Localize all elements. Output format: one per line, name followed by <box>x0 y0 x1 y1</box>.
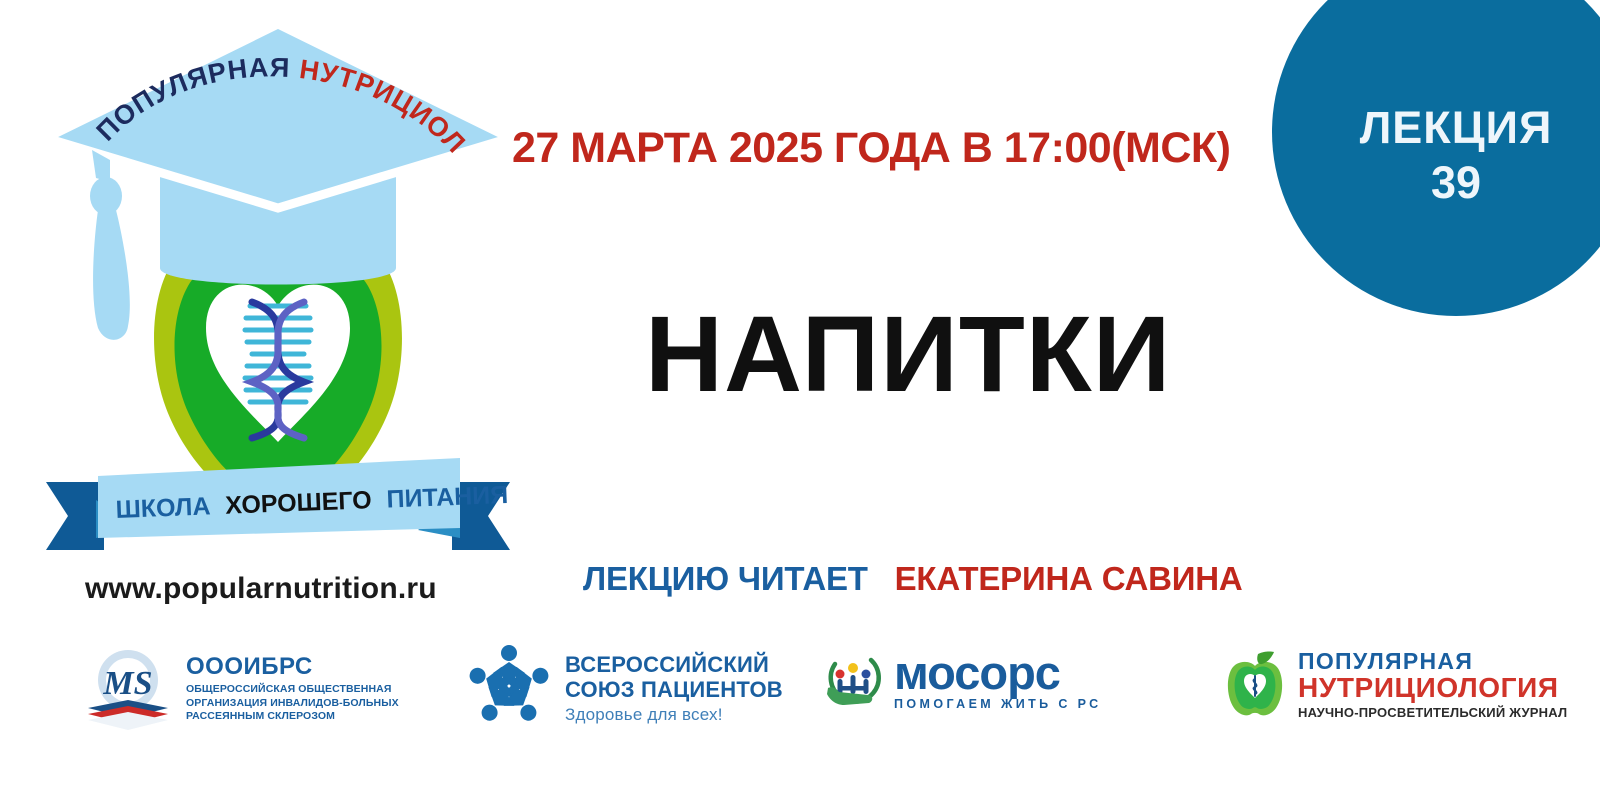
ribbon-text-horoshego: ХОРОШЕГО <box>225 486 372 520</box>
partner-text-journal: ПОПУЛЯРНАЯ НУТРИЦИОЛОГИЯ НАУЧНО-ПРОСВЕТИ… <box>1298 649 1567 720</box>
partner-logo-strip: MS ОООИБРС ОБЩЕРОССИЙСКАЯ ОБЩЕСТВЕННАЯ О… <box>0 636 1600 756</box>
partner-brand-vsp-line-1: ВСЕРОССИЙСКИЙ <box>565 652 783 677</box>
lecture-badge-word: ЛЕКЦИЯ <box>1360 104 1553 151</box>
apple-caduceus-icon <box>1222 646 1288 723</box>
partner-logo-mosors[interactable]: мосорс ПОМОГАЕМ ЖИТЬ С РС <box>822 648 1102 715</box>
partner-sub-line-2: ОРГАНИЗАЦИЯ ИНВАЛИДОВ-БОЛЬНЫХ <box>186 697 399 710</box>
website-url[interactable]: www.popularnutrition.ru <box>85 572 437 606</box>
ms-monogram-icon: MS <box>80 644 176 735</box>
partner-brand-vsp-line-2: СОЮЗ ПАЦИЕНТОВ <box>565 677 783 702</box>
partner-text-mosors: мосорс ПОМОГАЕМ ЖИТЬ С РС <box>894 652 1102 710</box>
event-date: 27 МАРТА 2025 ГОДА В 17:00(МСК) <box>512 124 1230 173</box>
people-circle-icon <box>463 640 555 737</box>
partner-tagline-vsp: Здоровье для всех! <box>565 705 783 725</box>
speaker-prefix: ЛЕКЦИЮ ЧИТАЕТ <box>583 560 868 597</box>
lecture-badge-content: ЛЕКЦИЯ 39 <box>1272 0 1600 316</box>
ribbon-tail-left-icon <box>46 482 104 550</box>
page-title: НАПИТКИ <box>645 300 1171 408</box>
lecture-badge-number: 39 <box>1431 151 1481 214</box>
partner-brand-mosors: мосорс <box>894 652 1102 694</box>
partner-journal-line-3: НАУЧНО-ПРОСВЕТИТЕЛЬСКИЙ ЖУРНАЛ <box>1298 705 1567 720</box>
lecture-announcement-banner: ЛЕКЦИЯ 39 <box>0 0 1600 800</box>
ribbon-banner: ШКОЛА ХОРОШЕГО ПИТАНИЯ <box>46 458 510 550</box>
partner-logo-journal[interactable]: ПОПУЛЯРНАЯ НУТРИЦИОЛОГИЯ НАУЧНО-ПРОСВЕТИ… <box>1222 646 1567 723</box>
partner-text-vsp: ВСЕРОССИЙСКИЙ СОЮЗ ПАЦИЕНТОВ Здоровье дл… <box>565 652 783 725</box>
cap-tassel-icon <box>90 150 130 340</box>
hand-people-icon <box>822 648 884 715</box>
ribbon-text-shkola: ШКОЛА <box>115 492 211 524</box>
ribbon-text-pitaniya: ПИТАНИЯ <box>386 481 509 514</box>
svg-text:MS: MS <box>102 665 152 702</box>
partner-journal-line-2: НУТРИЦИОЛОГИЯ <box>1298 673 1567 702</box>
partner-sub-line-1: ОБЩЕРОССИЙСКАЯ ОБЩЕСТВЕННАЯ <box>186 683 399 696</box>
lecture-number-badge: ЛЕКЦИЯ 39 <box>1272 0 1600 316</box>
partner-logo-vsp[interactable]: ВСЕРОССИЙСКИЙ СОЮЗ ПАЦИЕНТОВ Здоровье дл… <box>463 640 783 737</box>
partner-journal-line-1: ПОПУЛЯРНАЯ <box>1298 649 1567 673</box>
partner-text-oooibrs: ОООИБРС ОБЩЕРОССИЙСКАЯ ОБЩЕСТВЕННАЯ ОРГА… <box>186 655 399 723</box>
school-emblem: ПОПУЛЯРНАЯ НУТРИЦИОЛОГИЯ ШКОЛА ХОРОШЕГО … <box>38 10 518 570</box>
partner-brand-oooibrs: ОООИБРС <box>186 655 399 679</box>
partner-sub-line-3: РАССЕЯННЫМ СКЛЕРОЗОМ <box>186 710 399 723</box>
partner-logo-oooibrs[interactable]: MS ОООИБРС ОБЩЕРОССИЙСКАЯ ОБЩЕСТВЕННАЯ О… <box>80 644 399 735</box>
speaker-name: ЕКАТЕРИНА САВИНА <box>895 560 1243 597</box>
partner-tagline-mosors: ПОМОГАЕМ ЖИТЬ С РС <box>894 697 1102 711</box>
speaker-line: ЛЕКЦИЮ ЧИТАЕТ ЕКАТЕРИНА САВИНА <box>583 560 1243 598</box>
